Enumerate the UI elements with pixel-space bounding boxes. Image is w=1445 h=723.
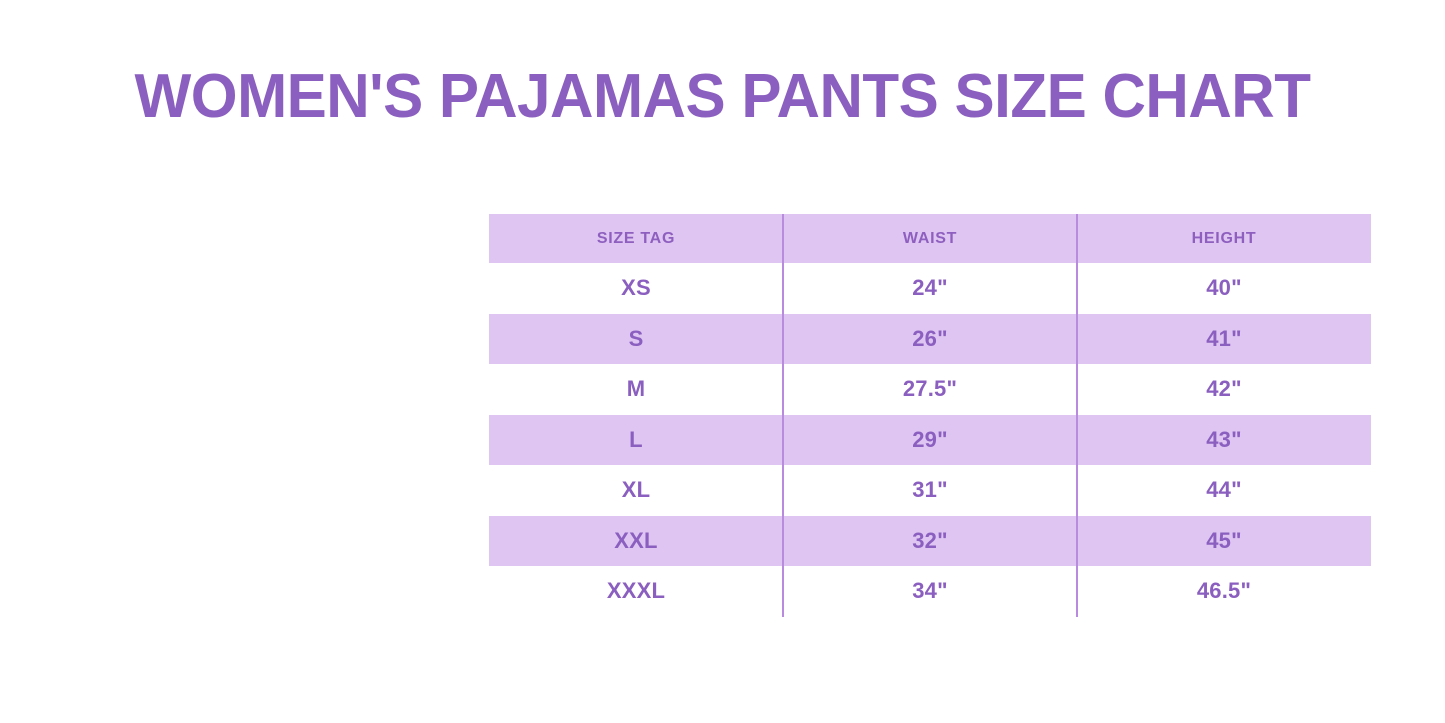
table-row: L 29" 43"	[489, 415, 1371, 466]
cell-size-tag: S	[489, 314, 783, 365]
table-header: SIZE TAG WAIST HEIGHT	[489, 214, 1371, 263]
table-row: XXL 32" 45"	[489, 516, 1371, 567]
size-chart-table: SIZE TAG WAIST HEIGHT XS 24" 40" S 26" 4…	[489, 214, 1371, 617]
size-chart-table-container: SIZE TAG WAIST HEIGHT XS 24" 40" S 26" 4…	[489, 214, 1371, 617]
cell-height: 42"	[1077, 364, 1371, 415]
cell-size-tag: XS	[489, 263, 783, 314]
cell-waist: 26"	[783, 314, 1077, 365]
table-body: XS 24" 40" S 26" 41" M 27.5" 42" L 29"	[489, 263, 1371, 617]
cell-waist: 29"	[783, 415, 1077, 466]
cell-size-tag: XXXL	[489, 566, 783, 617]
column-header-waist: WAIST	[783, 214, 1077, 263]
cell-waist: 27.5"	[783, 364, 1077, 415]
page-title: WOMEN'S PAJAMAS PANTS SIZE CHART	[22, 66, 1424, 128]
cell-size-tag: XXL	[489, 516, 783, 567]
cell-height: 41"	[1077, 314, 1371, 365]
cell-waist: 31"	[783, 465, 1077, 516]
cell-waist: 24"	[783, 263, 1077, 314]
size-chart-page: WOMEN'S PAJAMAS PANTS SIZE CHART SIZE TA…	[0, 0, 1445, 723]
cell-waist: 34"	[783, 566, 1077, 617]
column-header-size-tag: SIZE TAG	[489, 214, 783, 263]
table-row: XS 24" 40"	[489, 263, 1371, 314]
cell-size-tag: XL	[489, 465, 783, 516]
cell-size-tag: L	[489, 415, 783, 466]
cell-height: 46.5"	[1077, 566, 1371, 617]
cell-height: 40"	[1077, 263, 1371, 314]
table-row: XXXL 34" 46.5"	[489, 566, 1371, 617]
table-header-row: SIZE TAG WAIST HEIGHT	[489, 214, 1371, 263]
cell-size-tag: M	[489, 364, 783, 415]
cell-height: 45"	[1077, 516, 1371, 567]
cell-waist: 32"	[783, 516, 1077, 567]
cell-height: 43"	[1077, 415, 1371, 466]
table-row: S 26" 41"	[489, 314, 1371, 365]
table-row: XL 31" 44"	[489, 465, 1371, 516]
column-header-height: HEIGHT	[1077, 214, 1371, 263]
cell-height: 44"	[1077, 465, 1371, 516]
table-row: M 27.5" 42"	[489, 364, 1371, 415]
